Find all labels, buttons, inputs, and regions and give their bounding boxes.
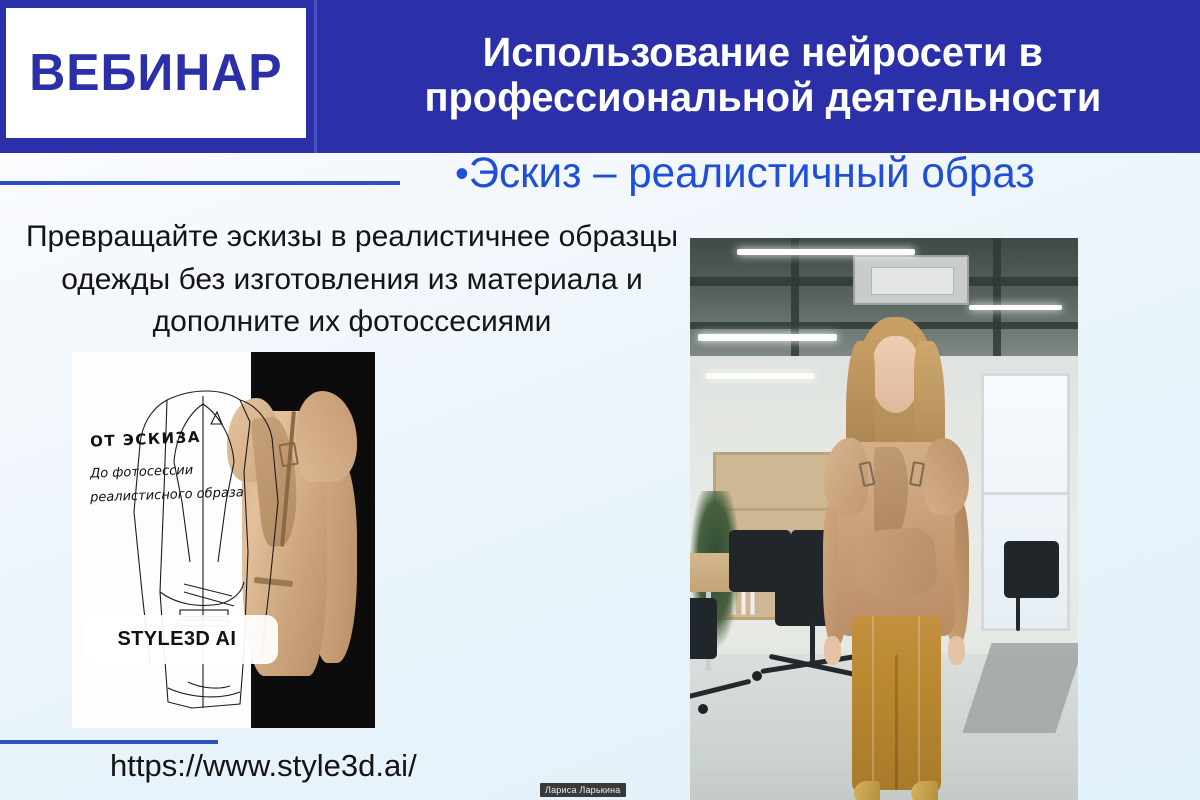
style3d-brand-badge: STYLE3D AI [84,615,278,664]
presenter-name-badge: Лариса Ларькина [540,783,626,797]
chair-caster [752,671,762,681]
source-url[interactable]: https://www.style3d.ai/ [110,748,417,784]
office-chair [690,598,717,660]
trouser-crease [918,616,920,790]
webinar-badge-label: ВЕБИНАР [29,47,282,99]
slide-header: ВЕБИНАР Использование нейросети в профес… [0,0,1200,153]
page-title-line-2: профессиональной деятельности [425,75,1102,120]
presentation-slide: ВЕБИНАР Использование нейросети в профес… [0,0,1200,800]
trouser-inseam [895,655,899,791]
body-paragraph-line-1: Превращайте эскизы в реалистичнее образц… [14,216,690,259]
bottom-accent-rule [0,740,218,744]
ceiling-light [737,249,915,255]
model-trousers [852,616,940,790]
body-paragraph-line-2: одежды без изготовления из материала и [14,259,690,302]
chair-post [810,620,815,665]
body-paragraph-line-3: дополните их фотоссесиями [14,301,690,344]
ceiling-beam [993,238,1001,356]
ceiling-light [969,305,1062,310]
model-blazer-wrap [853,527,938,600]
ceiling-light [706,373,815,379]
trouser-crease [872,616,874,790]
model-puff-sleeve-right [924,438,969,515]
model-shoe-left [854,781,880,800]
bullet-icon: • [455,152,469,196]
ceiling-light [698,334,838,341]
office-model-photo [690,238,1078,800]
style3d-brand-label: STYLE3D AI [117,628,236,651]
fashion-model [818,317,973,800]
section-subtitle: •Эскиз – реалистичный образ [455,152,1035,195]
page-title-line-1: Использование нейросети в [483,30,1043,75]
office-chair [1004,541,1058,597]
office-chair [729,530,791,592]
technical-sketch-lines [72,352,375,728]
page-title: Использование нейросети в профессиональн… [330,14,1196,136]
chair-post [1016,592,1020,631]
ceiling-ac-unit [853,255,969,306]
section-subtitle-text: Эскиз – реалистичный образ [469,149,1035,197]
model-hand-right [948,636,965,665]
header-divider [314,0,317,153]
body-paragraph: Превращайте эскизы в реалистичнее образц… [14,216,690,344]
sketch-to-render-image: ОТ ЭСКИЗА До фотосессии реалистисного об… [72,352,375,728]
webinar-badge: ВЕБИНАР [6,8,306,138]
top-accent-rule [0,181,400,185]
model-shoe-right [911,781,937,800]
model-hand-left [824,636,841,665]
